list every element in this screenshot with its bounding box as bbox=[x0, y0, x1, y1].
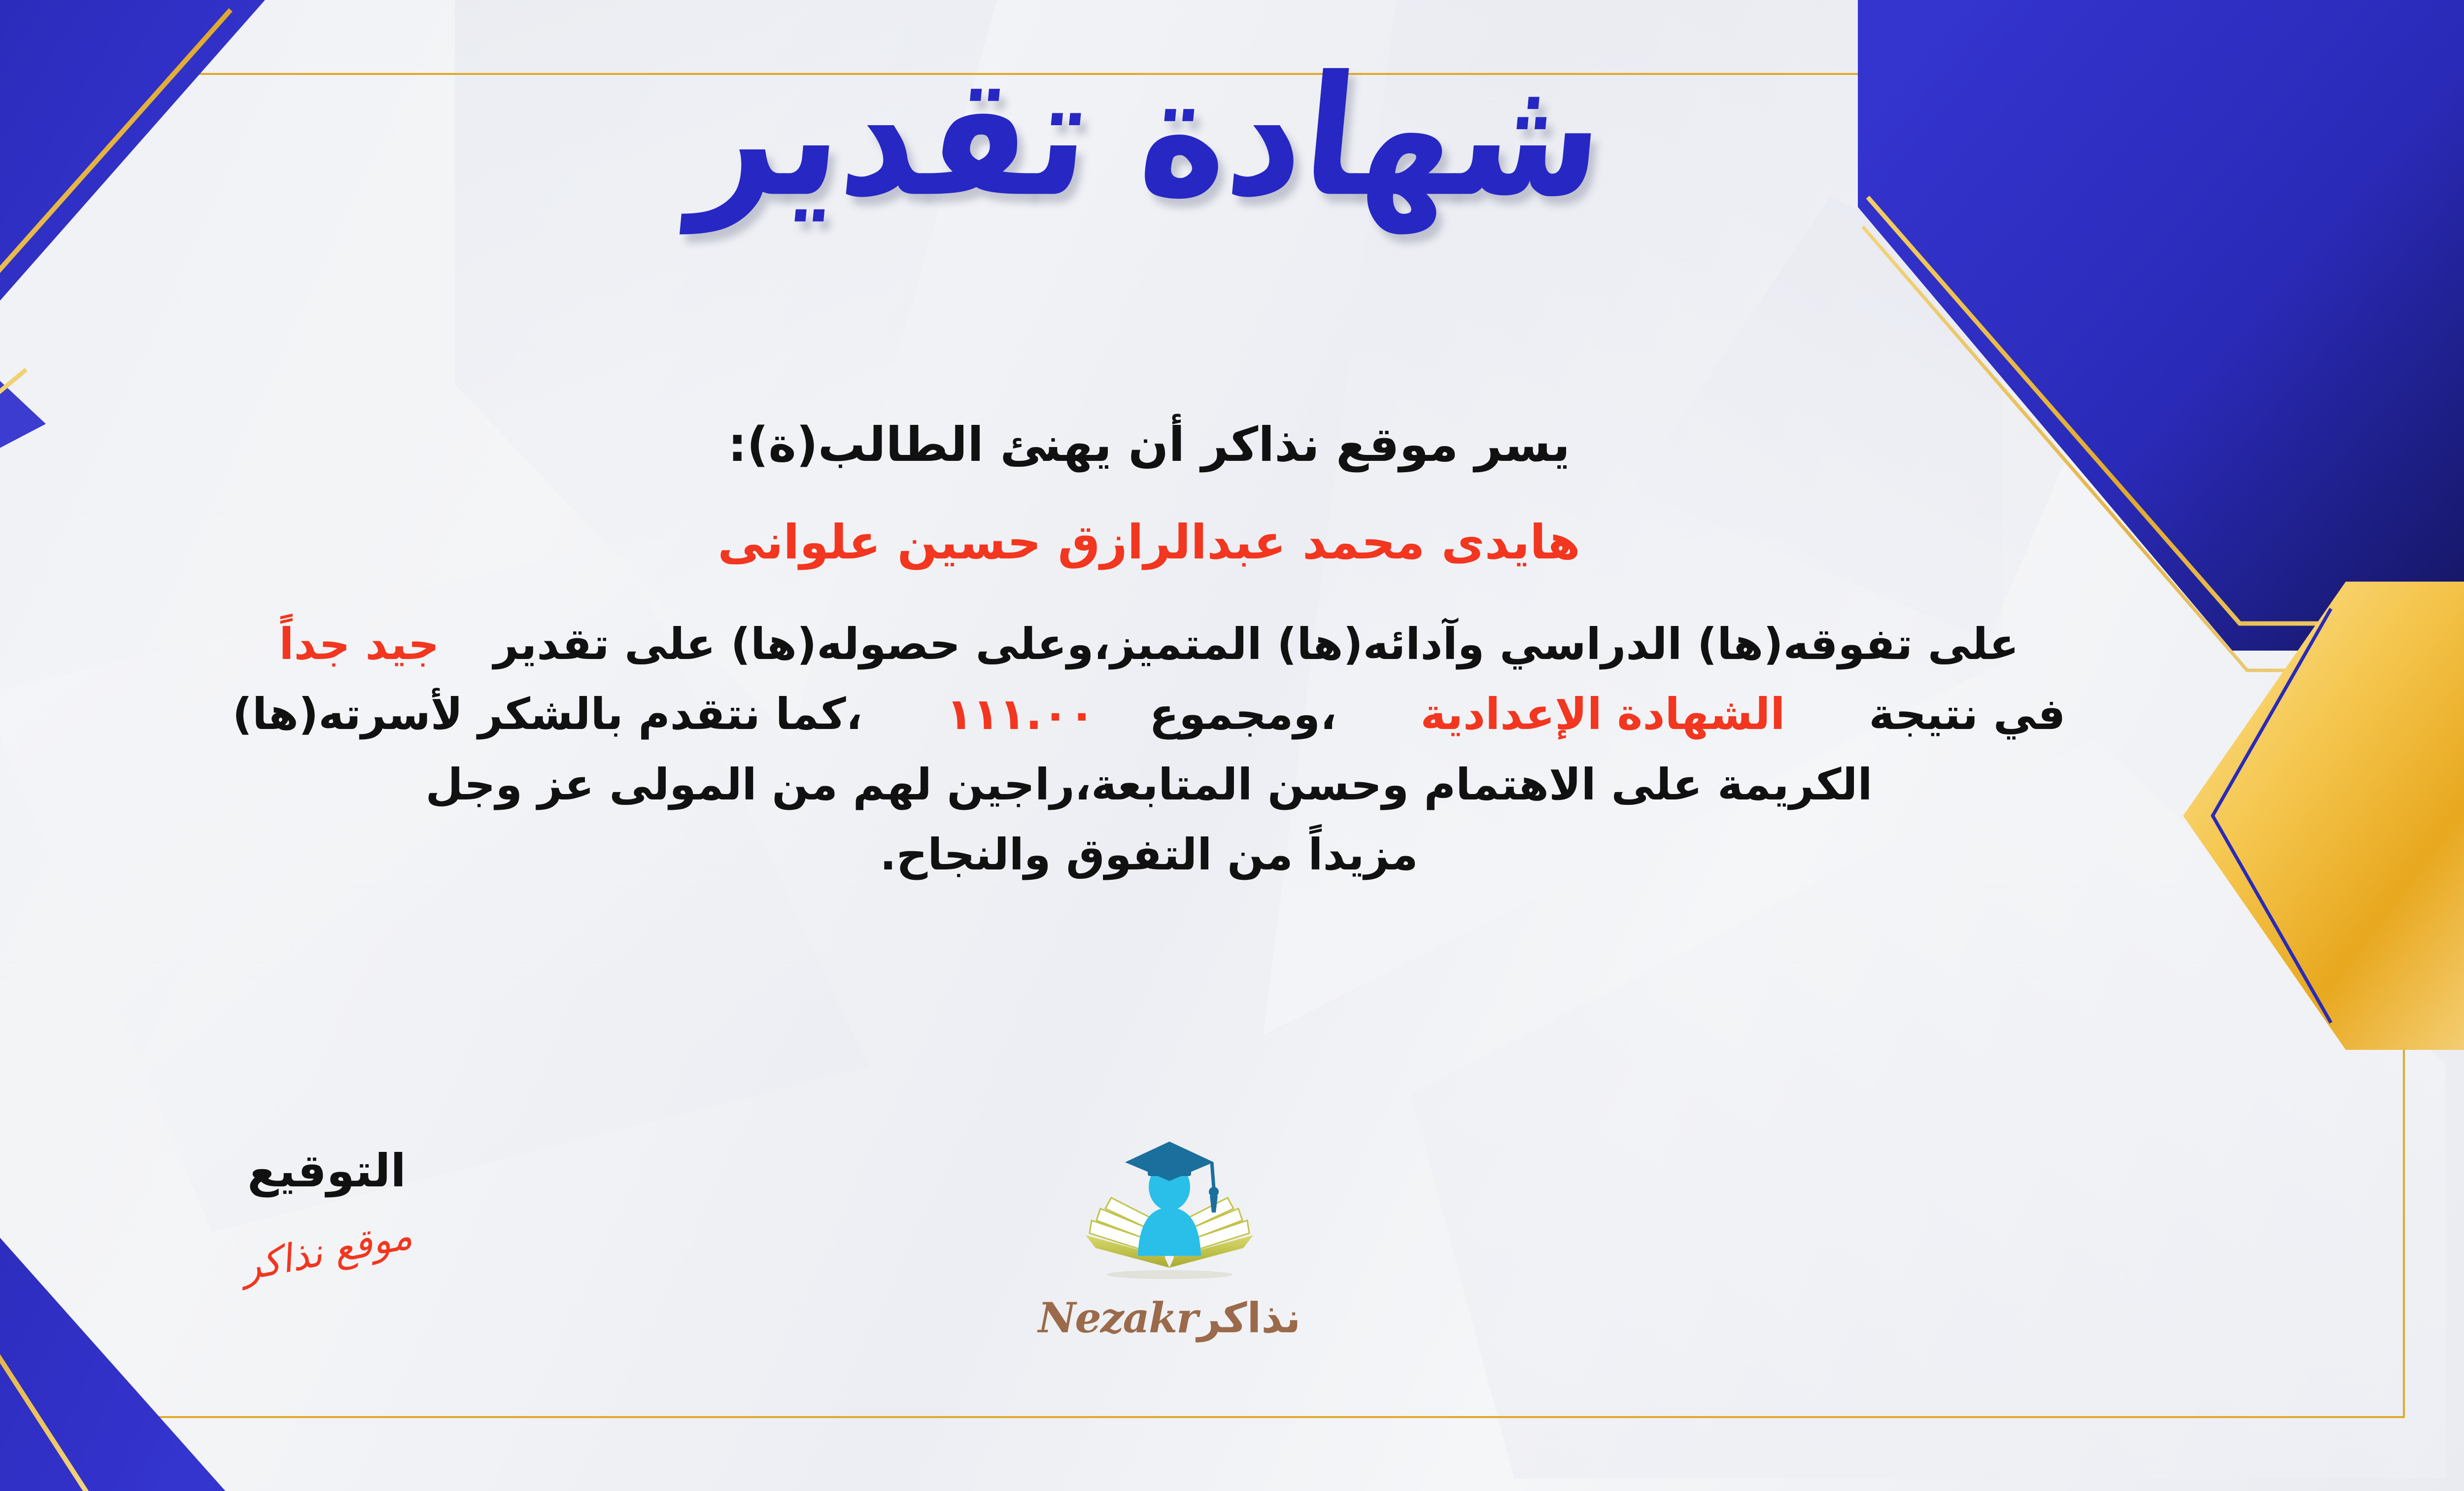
intro-line: يسر موقع نذاكر أن يهنئ الطالب(ة): bbox=[0, 409, 2370, 481]
citation-text-3: ،ومجموع bbox=[1149, 689, 1336, 739]
citation-line-1: على تفوقه(ها) الدراسي وآدائه(ها) المتميز… bbox=[0, 609, 2370, 680]
page-title: شهادة تقدير bbox=[687, 50, 1611, 224]
certificate-canvas: شهادة تقدير يسر موقع نذاكر أن يهنئ الطال… bbox=[0, 0, 2464, 1491]
certificate-body: يسر موقع نذاكر أن يهنئ الطالب(ة): هايدى … bbox=[0, 409, 2370, 890]
citation-text-1: على تفوقه(ها) الدراسي وآدائه(ها) المتميز… bbox=[493, 619, 2019, 669]
logo-wordmark: نذاكرNezakr bbox=[982, 1293, 1357, 1342]
logo-latin: Nezakr bbox=[1038, 1293, 1198, 1342]
citation-line-3: الكريمة على الاهتمام وحسن المتابعة،راجين… bbox=[0, 750, 2370, 820]
citation-line-4: مزيداً من التفوق والنجاح. bbox=[0, 820, 2370, 890]
grade-value: جيد جداً bbox=[279, 619, 439, 669]
citation-line-2: في نتيجةالشهادة الإعدادية،ومجموع١١١.٠٠،ك… bbox=[0, 679, 2370, 750]
signature-label: التوقيع bbox=[139, 1148, 514, 1194]
site-logo: نذاكرNezakr bbox=[982, 1134, 1357, 1342]
signature-block: التوقيع موقع نذاكر bbox=[139, 1148, 514, 1271]
citation-paragraph: على تفوقه(ها) الدراسي وآدائه(ها) المتميز… bbox=[0, 609, 2370, 890]
student-name: هايدى محمد عبدالرازق حسين علوانى bbox=[0, 507, 2370, 579]
certificate-title-area: شهادة تقدير bbox=[0, 59, 2464, 214]
citation-text-2: في نتيجة bbox=[1869, 689, 2065, 739]
total-score: ١١١.٠٠ bbox=[946, 689, 1095, 739]
corner-ornament-bottom-left bbox=[0, 1062, 420, 1491]
logo-arabic: نذاكر bbox=[1197, 1294, 1300, 1342]
graduate-book-icon bbox=[1066, 1134, 1273, 1291]
citation-text-4: ،كما نتقدم بالشكر لأسرته(ها) bbox=[233, 689, 863, 739]
exam-name: الشهادة الإعدادية bbox=[1420, 689, 1785, 739]
